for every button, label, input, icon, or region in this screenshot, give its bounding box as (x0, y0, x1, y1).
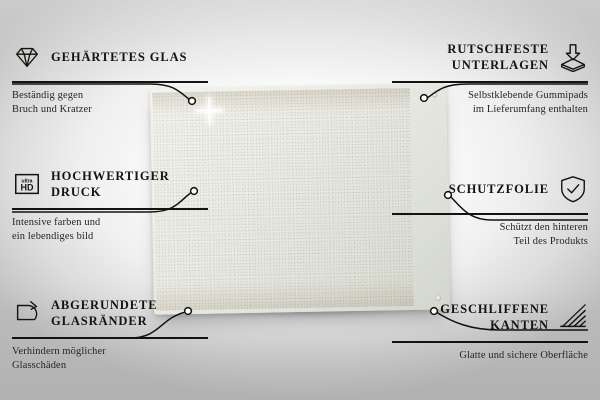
feature-rounded-edges: ABGERUNDETE GLASRÄNDER Verhindern möglic… (12, 292, 208, 372)
feature-subtitle: Glatte und sichere Oberfläche (392, 349, 588, 363)
rounded-corner-icon (12, 298, 42, 328)
feature-title: GESCHLIFFENE KANTEN (392, 301, 549, 333)
feature-anti-slip-pads: RUTSCHFESTE UNTERLAGEN Selbstklebende Gu… (392, 36, 588, 116)
diamond-icon (12, 42, 42, 72)
feature-tempered-glass: GEHÄRTETES GLAS Beständig gegenBruch und… (12, 36, 208, 116)
feature-subtitle: Intensive farben undein lebendiges bild (12, 216, 208, 244)
feature-divider (12, 337, 208, 339)
hatched-edge-icon (558, 302, 588, 332)
feature-divider (12, 81, 208, 83)
feature-divider (392, 341, 588, 343)
ultra-hd-badge-icon: ultra HD (12, 169, 42, 199)
feature-subtitle: Schützt den hinterenTeil des Produkts (392, 221, 588, 249)
feature-protective-film: SCHUTZFOLIE Schützt den hinterenTeil des… (392, 168, 588, 248)
feature-subtitle: Beständig gegenBruch und Kratzer (12, 89, 208, 117)
feature-high-quality-print: ultra HD HOCHWERTIGER DRUCK Intensive fa… (12, 163, 208, 243)
feature-divider (392, 213, 588, 215)
feature-subtitle: Selbstklebende Gummipadsim Lieferumfang … (392, 89, 588, 117)
feature-title: ABGERUNDETE GLASRÄNDER (51, 297, 208, 329)
feature-title: SCHUTZFOLIE (449, 181, 549, 197)
anti-slip-pad-icon (558, 42, 588, 72)
feature-title: GEHÄRTETES GLAS (51, 49, 187, 65)
feature-polished-edges: GESCHLIFFENE KANTEN Glatte und sichere O… (392, 296, 588, 363)
shield-check-icon (558, 174, 588, 204)
infographic-canvas: GEHÄRTETES GLAS Beständig gegenBruch und… (0, 0, 600, 400)
feature-subtitle: Verhindern möglicherGlasschäden (12, 345, 208, 373)
svg-text:HD: HD (21, 183, 34, 193)
feature-title: HOCHWERTIGER DRUCK (51, 168, 208, 200)
feature-divider (12, 208, 208, 210)
feature-title: RUTSCHFESTE UNTERLAGEN (392, 41, 549, 73)
feature-divider (392, 81, 588, 83)
